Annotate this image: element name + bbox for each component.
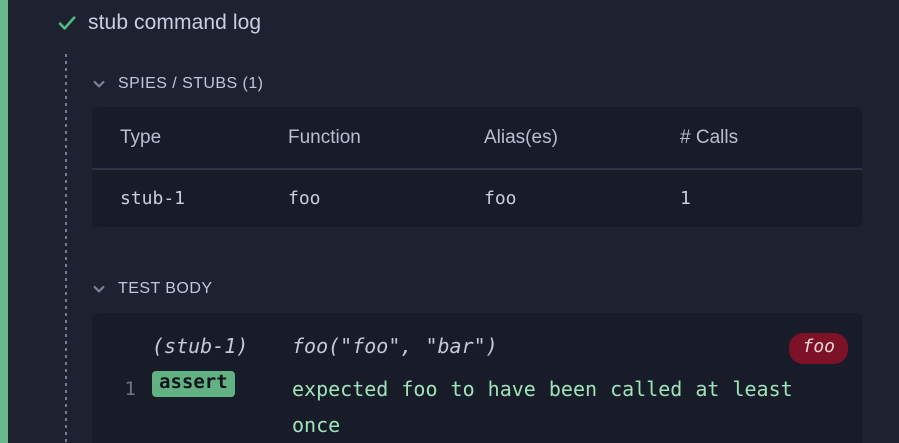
table-body: stub-1 foo foo 1 bbox=[92, 169, 862, 226]
command-log-row[interactable]: 1 assert expected foo to have been calle… bbox=[92, 371, 862, 443]
table-row[interactable]: stub-1 foo foo 1 bbox=[92, 169, 862, 226]
command-label: assert bbox=[136, 371, 292, 397]
section-title-spies-stubs: SPIES / STUBS (1) bbox=[118, 75, 263, 93]
spies-stubs-panel: Type Function Alias(es) # Calls stub-1 f… bbox=[92, 107, 862, 227]
check-icon bbox=[56, 12, 78, 34]
command-log-row[interactable]: (stub-1) foo("foo", "bar") foo bbox=[92, 321, 862, 371]
chevron-down-icon[interactable] bbox=[92, 282, 106, 296]
section-header-spies-stubs[interactable]: SPIES / STUBS (1) bbox=[92, 73, 263, 95]
chevron-down-icon[interactable] bbox=[92, 77, 106, 91]
cell-aliases: foo bbox=[484, 169, 680, 226]
cell-function: foo bbox=[288, 169, 484, 226]
column-header-type: Type bbox=[92, 107, 288, 169]
cell-num-calls: 1 bbox=[680, 169, 862, 226]
spies-stubs-table: Type Function Alias(es) # Calls stub-1 f… bbox=[92, 107, 862, 226]
command-label: (stub-1) bbox=[136, 328, 292, 364]
test-tree-connector bbox=[65, 54, 67, 443]
test-body-panel: (stub-1) foo("foo", "bar") foo 1 assert … bbox=[92, 313, 862, 443]
table-header-row: Type Function Alias(es) # Calls bbox=[92, 107, 862, 169]
table-header: Type Function Alias(es) # Calls bbox=[92, 107, 862, 169]
command-stub-alias: (stub-1) bbox=[152, 328, 248, 364]
assert-badge: assert bbox=[152, 371, 235, 397]
command-number: 1 bbox=[92, 371, 136, 407]
command-message: expected foo to have been called at leas… bbox=[292, 371, 862, 443]
page-title: stub command log bbox=[88, 11, 261, 35]
column-header-function: Function bbox=[288, 107, 484, 169]
cell-type: stub-1 bbox=[92, 169, 288, 226]
test-header-row[interactable]: stub command log bbox=[56, 6, 261, 40]
test-status-rail bbox=[0, 0, 8, 443]
column-header-num-calls: # Calls bbox=[680, 107, 862, 169]
column-header-aliases: Alias(es) bbox=[484, 107, 680, 169]
command-message: foo("foo", "bar") bbox=[292, 328, 862, 364]
section-title-test-body: TEST BODY bbox=[118, 280, 212, 298]
alias-badge[interactable]: foo bbox=[789, 333, 848, 364]
section-header-test-body[interactable]: TEST BODY bbox=[92, 278, 212, 300]
